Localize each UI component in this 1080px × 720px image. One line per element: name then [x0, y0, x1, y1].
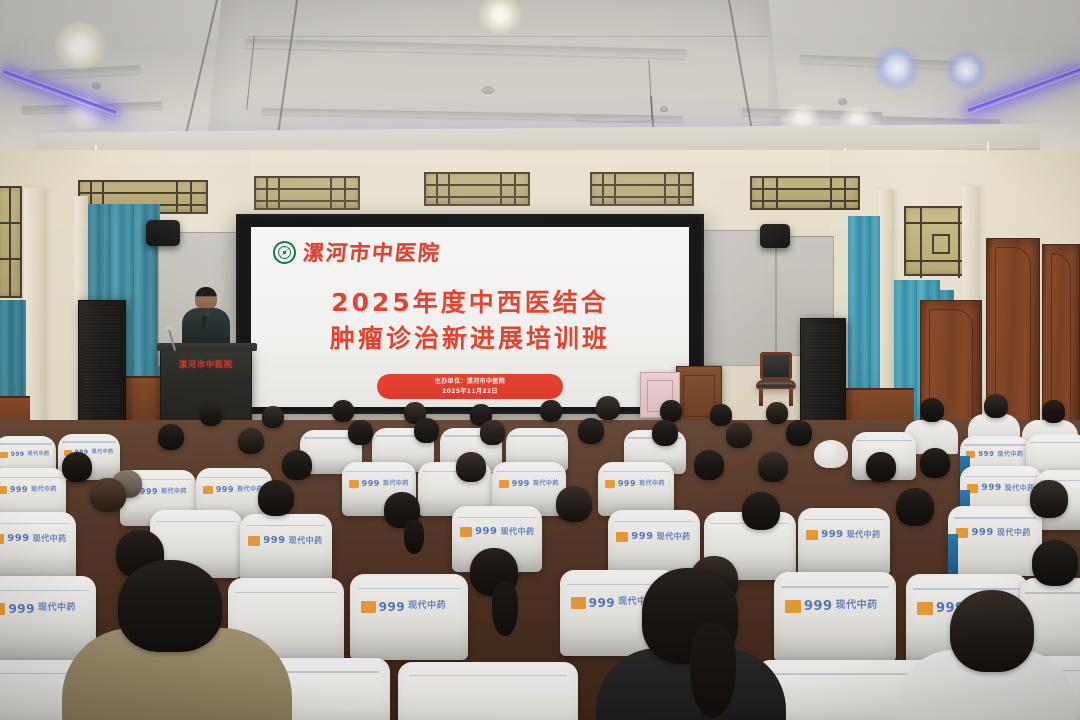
audience-head [540, 400, 562, 422]
audience-seat[interactable] [398, 662, 578, 720]
hanging-speaker-icon [760, 224, 790, 248]
audience-head [660, 400, 682, 422]
window-curtain [848, 216, 880, 416]
audience-head [920, 448, 950, 478]
stage-chair [756, 352, 796, 404]
audience-seat[interactable]: 999现代中药 [240, 514, 332, 582]
audience-head [786, 420, 812, 446]
audience-ponytail [404, 520, 424, 554]
audience-head [742, 492, 780, 530]
audience-head [258, 480, 294, 516]
led-presentation-screen[interactable]: 漯河市中医院 2025年度中西医结合 肿瘤诊治新进展培训班 主办单位：漯河市中医… [236, 214, 704, 414]
stage-wall-panel [700, 230, 776, 366]
audience-ponytail [492, 582, 518, 636]
chair-leg [759, 388, 763, 406]
audience-head [896, 488, 934, 526]
slide-hospital-logo: 漯河市中医院 [273, 237, 441, 267]
audience-head [118, 560, 222, 652]
mic-head-icon [165, 325, 173, 330]
pa-speaker-cabinet [78, 300, 126, 440]
audience-head [866, 452, 896, 482]
smoke-detector-icon [660, 106, 668, 111]
audience-head [200, 404, 222, 426]
audience-head [348, 420, 373, 445]
hospital-name-text: 漯河市中医院 [301, 237, 442, 267]
audience-seat[interactable]: 999现代中药 [798, 508, 890, 576]
lattice-window-panel [254, 176, 360, 210]
audience-head [726, 422, 752, 448]
audience-head [596, 396, 620, 420]
audience-seat[interactable]: 999现代中药 [598, 462, 674, 516]
presenter [182, 287, 230, 351]
ceiling-slat [30, 65, 140, 79]
audience-cap [814, 440, 848, 468]
audience-head [556, 486, 592, 522]
audience-head [62, 452, 92, 482]
audience-seat[interactable]: 999现代中药 [0, 512, 76, 580]
audience-head [920, 398, 944, 422]
audience-head [758, 452, 788, 482]
audience-head [456, 452, 486, 482]
chair-back [760, 352, 792, 380]
audience-ponytail [690, 622, 736, 718]
audience-head [158, 424, 184, 450]
ceiling-downlight [872, 46, 922, 90]
smoke-detector-icon [482, 86, 494, 93]
slide-title-line-1: 2025年度中西医结合 [251, 285, 689, 321]
audience-head [984, 394, 1008, 418]
audience-head [1042, 400, 1065, 423]
audience-head [262, 406, 284, 428]
audience-head [90, 478, 126, 512]
slide-date-text: 2025年11月22日 [442, 387, 498, 396]
lattice-window-panel [0, 186, 22, 298]
slide-title: 2025年度中西医结合 肿瘤诊治新进展培训班 [251, 285, 689, 356]
hanging-speaker-icon [146, 220, 180, 246]
audience-head [282, 450, 312, 480]
ceiling-slat [800, 55, 960, 70]
audience-head [1032, 540, 1078, 586]
audience-seat[interactable]: 999现代中药 [774, 572, 896, 662]
audience-head [578, 418, 604, 444]
audience-head [238, 428, 264, 454]
slide-organizer-pill: 主办单位：漯河市中医院 2025年11月22日 [377, 374, 563, 399]
audience-head [652, 420, 678, 446]
lattice-window-panel [590, 172, 694, 206]
audience-seat[interactable]: 999现代中药 [350, 574, 468, 660]
slide-organizer-text: 主办单位：漯河市中医院 [435, 377, 505, 386]
audience-seat[interactable]: 999现代中药 [948, 506, 1042, 576]
lattice-window-panel [424, 172, 530, 206]
slide-title-line-2: 肿瘤诊治新进展培训班 [251, 321, 689, 357]
audience-head [1030, 480, 1068, 518]
audience-head [694, 450, 724, 480]
hospital-emblem-icon [273, 241, 296, 264]
audience-head [766, 402, 788, 424]
led-strip-right [967, 66, 1080, 113]
smoke-detector-icon [92, 82, 101, 88]
conference-hall-photo: 漯河市中医院 2025年度中西医结合 肿瘤诊治新进展培训班 主办单位：漯河市中医… [0, 0, 1080, 720]
ceiling-downlight [52, 22, 108, 70]
lattice-window-panel [750, 176, 860, 210]
podium-hospital-text: 漯河市中医院 [161, 359, 251, 370]
slide-surface: 漯河市中医院 2025年度中西医结合 肿瘤诊治新进展培训班 主办单位：漯河市中医… [251, 227, 689, 407]
audience-head [414, 418, 439, 443]
ceiling-downlight [944, 50, 988, 90]
audience-head [332, 400, 354, 422]
audience-head [480, 420, 505, 445]
chair-leg [789, 388, 793, 406]
audience-head [950, 590, 1034, 672]
audience-head [710, 404, 732, 426]
smoke-detector-icon [838, 98, 847, 104]
